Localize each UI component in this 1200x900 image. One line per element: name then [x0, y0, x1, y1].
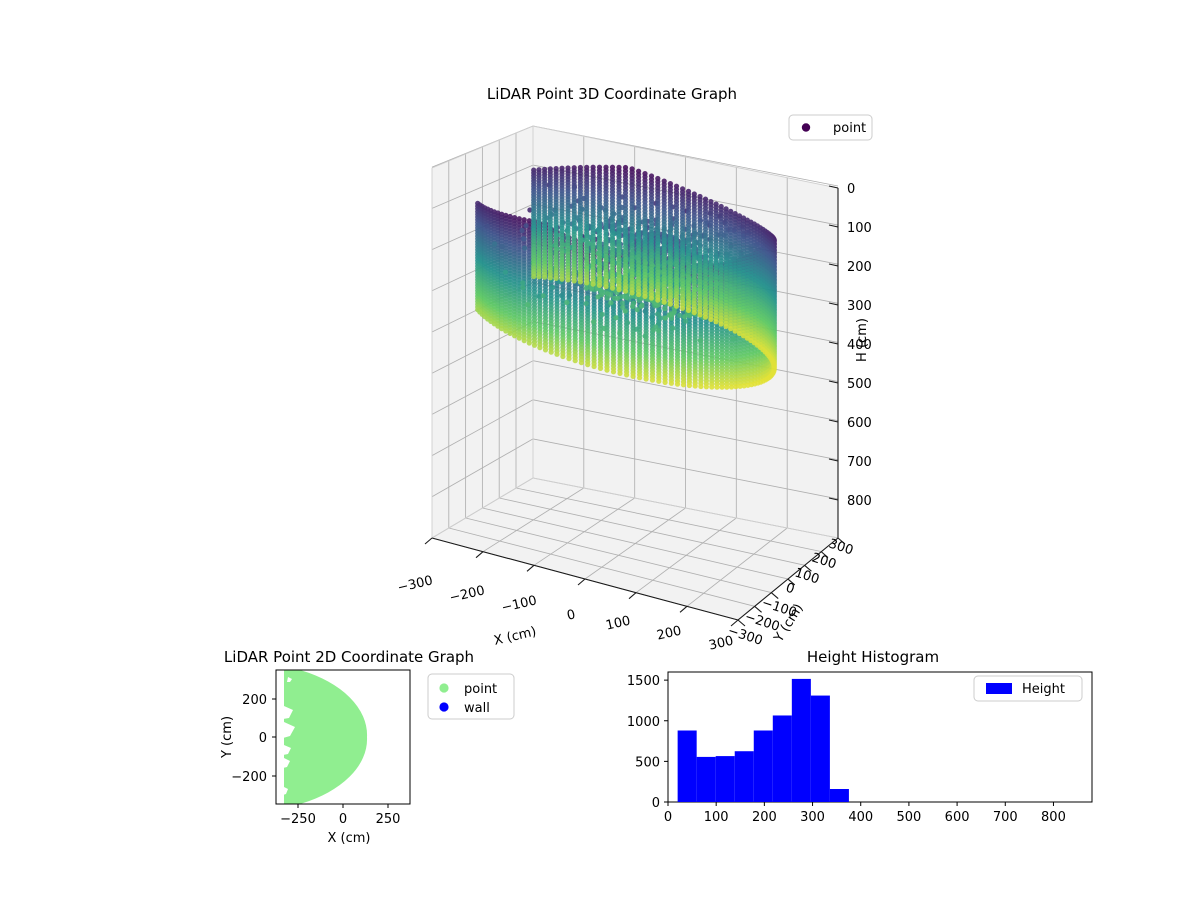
histogram-x-tick-label-300: 300	[800, 810, 825, 825]
z-tick-800: 800	[847, 494, 872, 509]
histogram-x-tick-label-600: 600	[945, 810, 970, 825]
z-tick-0: 0	[847, 182, 855, 197]
histogram-x-tick-label-800: 800	[1041, 810, 1066, 825]
histogram-title: Height Histogram	[807, 648, 939, 666]
legend-marker-wall-icon	[439, 702, 448, 711]
legend-marker-point-icon	[802, 123, 810, 131]
z-tick-300: 300	[847, 299, 872, 314]
histogram-bar	[773, 715, 792, 802]
scatter3d-title: LiDAR Point 3D Coordinate Graph	[487, 85, 737, 103]
scatter2d-legend-label-wall: wall	[464, 701, 490, 716]
histogram-x-tick-label-400: 400	[848, 810, 873, 825]
matplotlib-figure: LiDAR Point 3D Coordinate Graph	[0, 0, 1200, 900]
scatter3d-zlabel: H (cm)	[855, 318, 870, 362]
scatter2d-x-tick--250: −250	[280, 812, 316, 827]
scatter2d-x-tick-0: 0	[339, 812, 347, 827]
histogram-bar	[754, 731, 773, 803]
legend-marker-point-icon	[439, 683, 448, 692]
histogram-legend[interactable]: Height	[974, 676, 1082, 701]
scatter2d-legend-label-point: point	[464, 682, 497, 697]
z-tick-200: 200	[847, 260, 872, 275]
scatter2d-legend[interactable]: point wall	[428, 674, 514, 719]
scatter2d-y-tick-200: 200	[242, 693, 267, 708]
scatter2d-ylabel: Y (cm)	[220, 716, 235, 759]
histogram-bar	[830, 789, 849, 802]
scatter2d-y-tick-0: 0	[259, 731, 267, 746]
histogram-y-tick-label-1000: 1000	[627, 715, 660, 730]
histogram-x-tick-label-0: 0	[664, 810, 672, 825]
scatter2d-y-tick--200: −200	[231, 770, 267, 785]
histogram-x-tick-label-700: 700	[993, 810, 1018, 825]
histogram-bar	[792, 679, 811, 802]
scatter3d-legend[interactable]: point	[789, 115, 872, 140]
histogram-bar	[678, 731, 697, 803]
legend-patch-height-icon	[986, 683, 1012, 694]
z-tick-500: 500	[847, 377, 872, 392]
histogram-y-tick-label-1500: 1500	[627, 674, 660, 689]
scatter3d-legend-label-point: point	[833, 121, 866, 136]
histogram-x-tick-label-100: 100	[704, 810, 729, 825]
histogram-bar	[735, 751, 754, 802]
histogram-y-tick-label-0: 0	[652, 796, 660, 811]
histogram-x-tick-label-500: 500	[896, 810, 921, 825]
histogram-bar	[697, 757, 716, 802]
z-tick-100: 100	[847, 221, 872, 236]
scatter2d-title: LiDAR Point 2D Coordinate Graph	[224, 648, 474, 666]
histogram-bar	[811, 696, 830, 802]
histogram-x-tick-label-200: 200	[752, 810, 777, 825]
scatter2d-xlabel: X (cm)	[328, 831, 371, 846]
figure-canvas: LiDAR Point 3D Coordinate Graph	[0, 0, 1200, 900]
histogram-y-tick-label-500: 500	[635, 755, 660, 770]
z-tick-700: 700	[847, 455, 872, 470]
scatter2d-x-tick-250: 250	[376, 812, 401, 827]
z-tick-600: 600	[847, 416, 872, 431]
histogram-legend-label-height: Height	[1022, 682, 1065, 697]
histogram-bar	[716, 756, 735, 802]
